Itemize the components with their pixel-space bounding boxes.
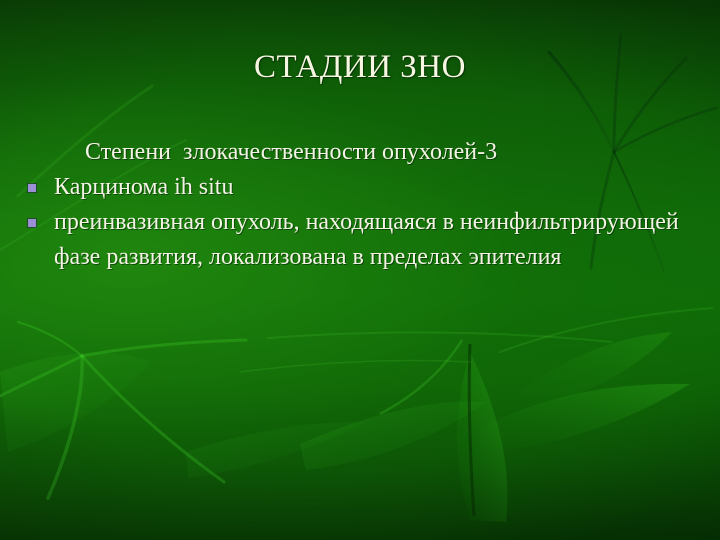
square-bullet-icon xyxy=(28,184,36,192)
lead-line: Степени злокачественности опухолей-3 xyxy=(24,135,684,170)
square-bullet-icon xyxy=(28,219,36,227)
list-item: преинвазивная опухоль, находящаяся в неи… xyxy=(24,205,684,275)
slide-body: Степени злокачественности опухолей-3 Кар… xyxy=(24,135,684,275)
list-item: Карцинома ih situ xyxy=(24,170,684,205)
list-item-label: Карцинома ih situ xyxy=(54,170,684,205)
list-item-label: преинвазивная опухоль, находящаяся в неи… xyxy=(54,205,684,275)
presentation-slide: СТАДИИ ЗНО Степени злокачественности опу… xyxy=(0,0,720,540)
bullet-list: Карцинома ih situ преинвазивная опухоль,… xyxy=(24,170,684,275)
page-title: СТАДИИ ЗНО xyxy=(0,47,720,87)
